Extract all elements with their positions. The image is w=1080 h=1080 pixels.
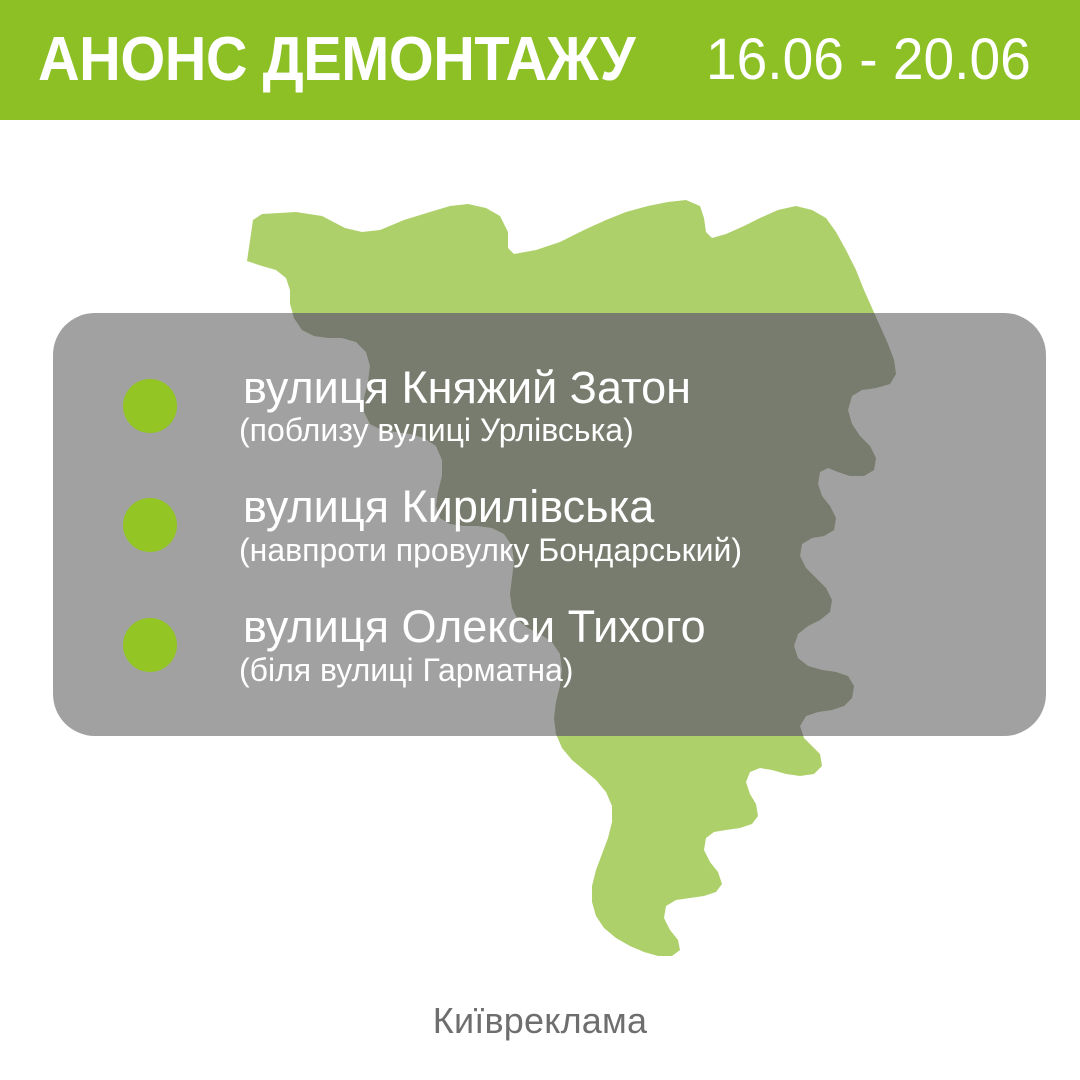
page-title: АНОНС ДЕМОНТАЖУ bbox=[38, 29, 635, 91]
street-note: (навпроти провулку Бондарський) bbox=[239, 533, 742, 569]
bullet-point-icon bbox=[123, 365, 243, 433]
header-banner: АНОНС ДЕМОНТАЖУ 16.06 - 20.06 bbox=[0, 0, 1080, 120]
bullet-point-icon bbox=[123, 484, 243, 552]
street-entry: вулиця Олекси Тихого (біля вулиці Гармат… bbox=[243, 604, 706, 689]
date-range-label: 16.06 - 20.06 bbox=[706, 31, 1031, 89]
map-stage: вулиця Княжий Затон (поблизу вулиці Урлі… bbox=[0, 120, 1080, 1000]
street-entry: вулиця Княжий Затон (поблизу вулиці Урлі… bbox=[243, 365, 691, 450]
list-item[interactable]: вулиця Княжий Затон (поблизу вулиці Урлі… bbox=[123, 365, 1006, 450]
street-name: вулиця Кирилівська bbox=[243, 484, 742, 531]
street-note: (поблизу вулиці Урлівська) bbox=[239, 413, 691, 449]
street-name: вулиця Княжий Затон bbox=[243, 365, 691, 412]
street-list-panel: вулиця Княжий Затон (поблизу вулиці Урлі… bbox=[53, 313, 1046, 736]
list-item[interactable]: вулиця Олекси Тихого (біля вулиці Гармат… bbox=[123, 604, 1006, 689]
street-entry: вулиця Кирилівська (навпроти провулку Бо… bbox=[243, 484, 742, 569]
list-item[interactable]: вулиця Кирилівська (навпроти провулку Бо… bbox=[123, 484, 1006, 569]
street-name: вулиця Олекси Тихого bbox=[243, 604, 706, 651]
bullet-point-icon bbox=[123, 604, 243, 672]
street-note: (біля вулиці Гарматна) bbox=[239, 653, 706, 689]
brand-label: Київреклама bbox=[0, 1000, 1080, 1042]
